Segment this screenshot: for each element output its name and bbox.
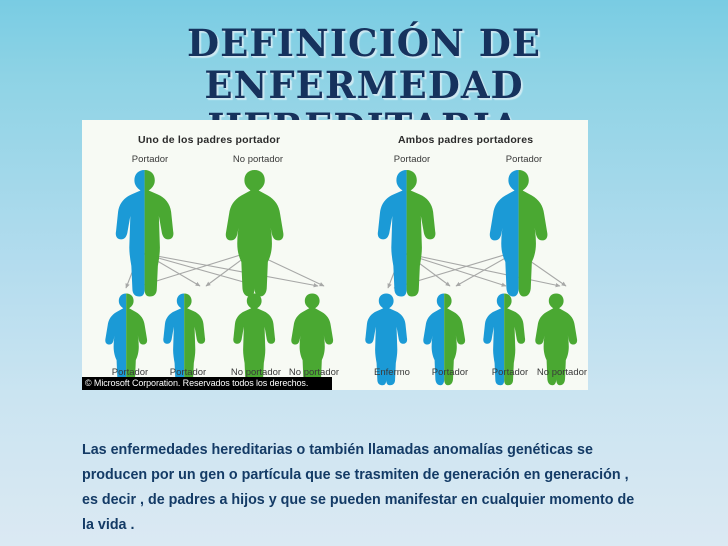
child-label-g2-3: No portador xyxy=(517,367,588,378)
figure-parent-g2-0 xyxy=(378,170,436,296)
slide-body-text: Las enfermedades hereditarias o también … xyxy=(82,438,648,538)
figure-parent-g1-0 xyxy=(116,170,174,296)
figure-parent-g2-1 xyxy=(490,170,548,296)
pedigree-figures xyxy=(82,120,588,390)
copyright-notice: © Microsoft Corporation. Reservados todo… xyxy=(82,377,332,390)
heredity-diagram-panel: Uno de los padres portador Ambos padres … xyxy=(82,120,588,390)
slide-canvas: DEFINICIÓN DE ENFERMEDAD HEREDITARIA Uno… xyxy=(0,0,728,546)
